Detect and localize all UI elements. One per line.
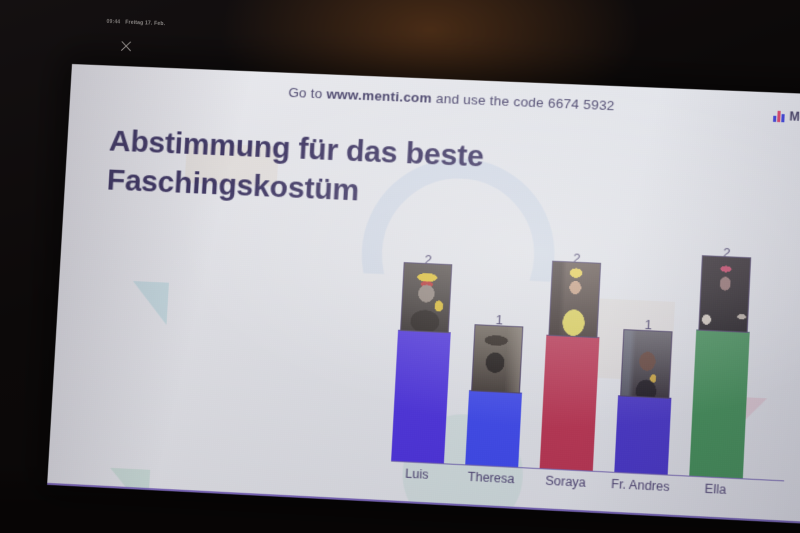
os-status-overlay: 09:44 Freitag 17. Feb. xyxy=(105,19,165,54)
photo-frandres-costume xyxy=(620,329,672,399)
decor-triangle-mint xyxy=(108,468,151,515)
bar-label-theresa: Theresa xyxy=(454,469,528,488)
projection-area: Go to www.menti.com and use the code 667… xyxy=(0,0,800,533)
bar-fill-fr-andres xyxy=(614,395,671,474)
join-instruction: Go to www.menti.com and use the code 667… xyxy=(70,76,800,123)
mentimeter-logo: Menti xyxy=(773,109,800,125)
bar-label-ella: Ella xyxy=(678,480,753,499)
projection-screen: Go to www.menti.com and use the code 667… xyxy=(47,64,800,524)
menti-url: www.menti.com xyxy=(326,86,432,105)
bar-column-soraya[interactable]: 2 Soraya xyxy=(540,234,605,471)
os-clock: 09:44 xyxy=(106,19,120,26)
close-icon[interactable] xyxy=(119,39,132,52)
bar-column-luis[interactable]: 2 Luis xyxy=(391,227,456,463)
bar-group: 2 Luis 1 Theresa xyxy=(391,227,781,479)
bar-label-soraya: Soraya xyxy=(528,472,602,491)
photo-luis-costume xyxy=(400,262,452,333)
join-prefix: Go to xyxy=(288,85,327,102)
photo-soraya-costume xyxy=(548,260,601,337)
poll-bar-chart: 2 Luis 1 Theresa xyxy=(391,229,781,481)
bar-label-luis: Luis xyxy=(380,465,454,484)
vote-code: 6674 5932 xyxy=(548,95,615,113)
photo-ella-costume xyxy=(698,255,751,333)
mentimeter-bars-icon xyxy=(773,110,785,122)
join-middle: and use the code xyxy=(432,91,549,111)
bar-fill-theresa xyxy=(465,390,522,467)
page-title: Abstimmung für das beste Faschingskostüm xyxy=(106,122,542,219)
bar-column-theresa[interactable]: 1 Theresa xyxy=(465,230,530,466)
bar-label-fr-andres: Fr. Andres xyxy=(603,476,678,495)
decor-triangle-teal xyxy=(131,281,169,325)
os-date: Freitag 17. Feb. xyxy=(125,20,165,28)
bar-fill-luis xyxy=(391,329,451,463)
bar-column-fr-andres[interactable]: 1 Fr. Andres xyxy=(614,237,679,474)
photo-theresa-costume xyxy=(471,324,523,393)
bar-fill-ella xyxy=(689,329,749,478)
mentimeter-logo-text: Menti xyxy=(789,109,800,125)
bar-column-ella[interactable]: 2 Ella xyxy=(689,240,754,477)
bar-fill-soraya xyxy=(540,334,600,470)
